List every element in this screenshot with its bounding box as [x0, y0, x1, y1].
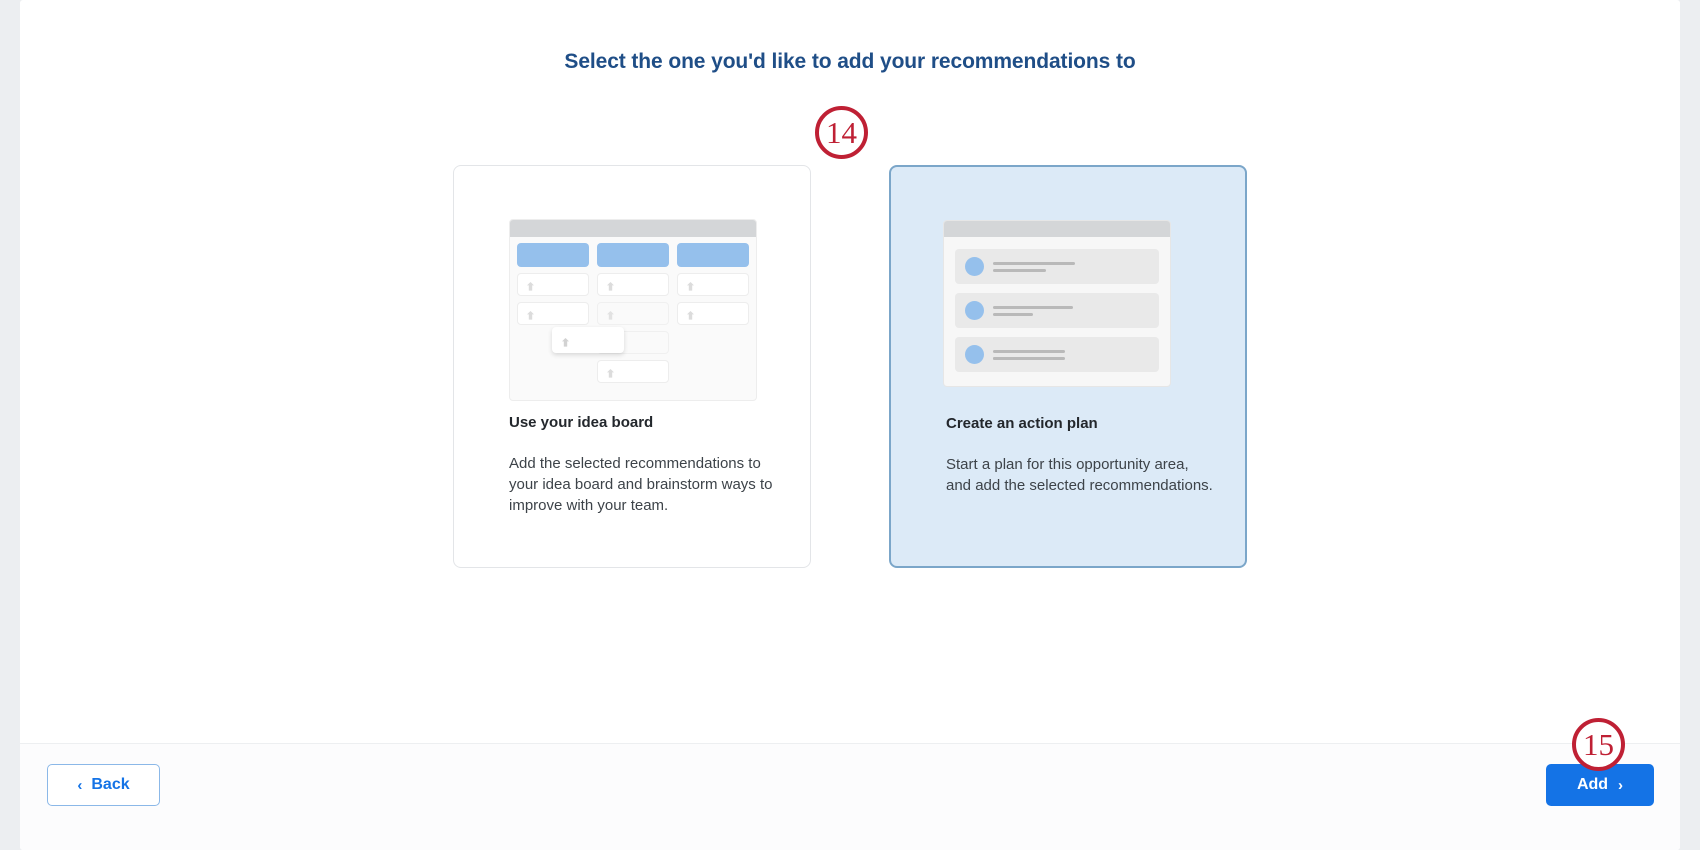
kanban-board-illustration: [509, 219, 757, 401]
option-heading: Use your idea board: [509, 414, 777, 431]
kanban-card: [517, 273, 589, 296]
plan-row-lines: [993, 350, 1065, 360]
option-description: Start a plan for this opportunity area, …: [946, 454, 1214, 496]
option-heading: Create an action plan: [946, 415, 1214, 432]
kanban-card: [597, 302, 669, 325]
kanban-card: [677, 273, 749, 296]
option-card-action-plan[interactable]: Create an action plan Start a plan for t…: [889, 165, 1247, 568]
text-placeholder-line: [993, 357, 1065, 360]
chevron-right-icon: ›: [1618, 778, 1623, 793]
option-description: Add the selected recommendations to your…: [509, 453, 777, 516]
kanban-column-header: [677, 243, 749, 267]
pin-arrow-icon: [605, 366, 616, 377]
plan-row: [955, 293, 1159, 328]
action-plan-list-illustration: [943, 220, 1171, 387]
kanban-column: [517, 243, 589, 389]
action-plan-illustration-wrap: [891, 207, 1245, 402]
option-text-idea-board: Use your idea board Add the selected rec…: [509, 414, 777, 516]
pin-arrow-icon: [685, 279, 696, 290]
chevron-left-icon: ‹: [77, 778, 82, 793]
annotation-badge-15: 15: [1572, 718, 1625, 771]
kanban-card-empty: [677, 331, 749, 354]
avatar: [965, 301, 984, 320]
kanban-column: [677, 243, 749, 389]
illustration-title-bar: [510, 220, 756, 237]
option-card-idea-board[interactable]: Use your idea board Add the selected rec…: [453, 165, 811, 568]
page-title: Select the one you'd like to add your re…: [20, 50, 1680, 74]
text-placeholder-line: [993, 262, 1075, 265]
kanban-card-empty: [517, 360, 589, 383]
kanban-card: [517, 302, 589, 325]
pin-arrow-icon: [685, 308, 696, 319]
kanban-column-header: [517, 243, 589, 267]
wizard-footer: ‹ Back Add ›: [20, 743, 1680, 850]
option-text-action-plan: Create an action plan Start a plan for t…: [946, 415, 1214, 496]
kanban-card: [597, 273, 669, 296]
kanban-dragged-card: [552, 327, 624, 353]
pin-arrow-icon: [525, 308, 536, 319]
illustration-title-bar: [944, 221, 1170, 237]
option-cards: Use your idea board Add the selected rec…: [20, 165, 1680, 568]
plan-row-lines: [993, 262, 1075, 272]
pin-arrow-icon: [560, 335, 571, 346]
kanban-column-header: [597, 243, 669, 267]
text-placeholder-line: [993, 269, 1046, 272]
text-placeholder-line: [993, 313, 1033, 316]
avatar: [965, 345, 984, 364]
avatar: [965, 257, 984, 276]
pin-arrow-icon: [605, 279, 616, 290]
screen: Select the one you'd like to add your re…: [0, 0, 1700, 850]
plan-row: [955, 337, 1159, 372]
kanban-grid: [510, 237, 756, 389]
kanban-card-empty: [677, 360, 749, 383]
add-button-label: Add: [1577, 776, 1608, 794]
plan-rows: [944, 237, 1170, 372]
kanban-card: [677, 302, 749, 325]
back-button[interactable]: ‹ Back: [47, 764, 160, 806]
pin-arrow-icon: [605, 308, 616, 319]
back-button-label: Back: [91, 776, 129, 794]
plan-row: [955, 249, 1159, 284]
annotation-badge-14: 14: [815, 106, 868, 159]
text-placeholder-line: [993, 306, 1073, 309]
idea-board-illustration-wrap: [454, 206, 810, 401]
kanban-column: [597, 243, 669, 389]
text-placeholder-line: [993, 350, 1065, 353]
plan-row-lines: [993, 306, 1073, 316]
pin-arrow-icon: [525, 279, 536, 290]
kanban-card: [597, 360, 669, 383]
